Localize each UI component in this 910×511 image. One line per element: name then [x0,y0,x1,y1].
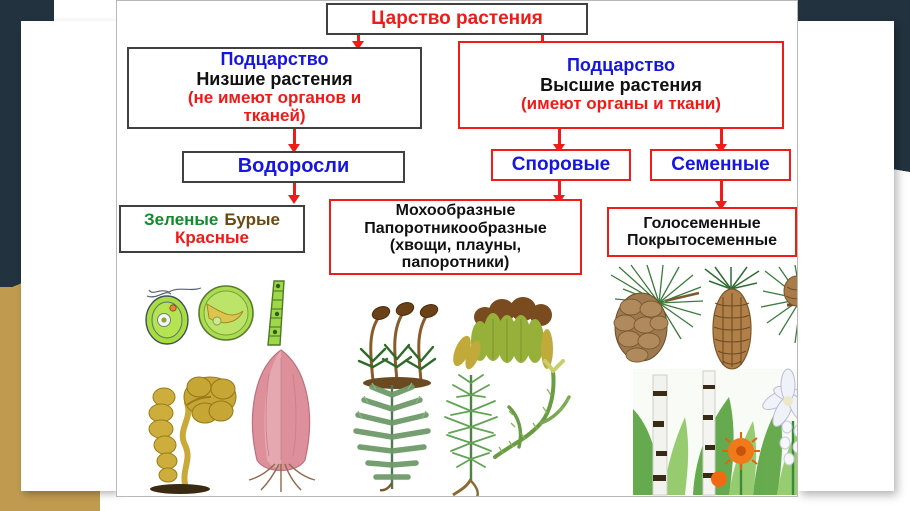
box-seed-plant-detail[interactable]: Голосеменные Покрытосеменные [607,207,797,257]
box-higher-plants[interactable]: Подцарство Высшие растения (имеют органы… [458,41,784,129]
kingdom-plants-label: Царство растения [371,9,543,30]
spore-plants-label: Споровые [512,155,611,176]
arrowhead-algae-to-types [288,195,300,204]
pine-cones-icon [757,265,798,361]
filament-algae-icon [254,279,290,347]
lower-plants-note-2: тканей) [243,107,305,125]
red-algae-icon [235,344,327,494]
seed-detail-line-1: Голосеменные [643,215,760,232]
box-spore-plant-detail[interactable]: Мохообразные Папоротникообразные (хвощи,… [329,199,582,275]
higher-plants-heading: Подцарство [567,56,675,75]
spore-detail-line-4: папоротники) [402,254,510,271]
box-kingdom-plants[interactable]: Царство растения [326,3,588,35]
lower-plants-heading: Подцарство [220,50,328,69]
clubmoss-icon [489,361,575,471]
algae-type-green: Зеленые [144,211,218,229]
green-algae-cell-icon [197,284,255,342]
slide-stage: Царство растения Подцарство Низшие расте… [0,0,910,511]
box-lower-plants[interactable]: Подцарство Низшие растения (не имеют орг… [127,47,422,129]
spore-detail-line-2: Папоротникообразные [364,220,547,237]
box-seed-plants[interactable]: Семенные [650,149,791,181]
decor-right-white-card [798,21,894,491]
algae-type-brown: Бурые [224,211,280,229]
box-algae[interactable]: Водоросли [182,151,405,183]
seed-plants-label: Семенные [671,155,769,176]
box-spore-plants[interactable]: Споровые [491,149,631,181]
higher-plants-note: (имеют органы и ткани) [521,95,721,113]
lower-plants-name: Низшие растения [196,70,352,89]
spore-detail-line-1: Мохообразные [396,202,516,219]
brown-algae-icon [135,353,245,493]
diagram-panel: Царство растения Подцарство Низшие расте… [116,0,798,497]
fern-frond-icon [342,373,442,491]
higher-plants-name: Высшие растения [540,76,702,95]
larch-cone-icon [601,265,707,369]
algae-type-red: Красные [175,229,249,247]
lower-plants-note-1: (не имеют органов и [188,89,361,107]
box-algae-types[interactable]: Зеленые Бурые Красные [119,205,305,253]
spore-detail-line-3: (хвощи, плауны, [390,237,521,254]
flowering-meadow-icon [633,369,798,495]
spruce-cone-icon [701,267,763,371]
decor-left-white-card [21,21,116,491]
seed-detail-line-2: Покрытосеменные [627,232,777,249]
algae-label: Водоросли [238,156,350,178]
